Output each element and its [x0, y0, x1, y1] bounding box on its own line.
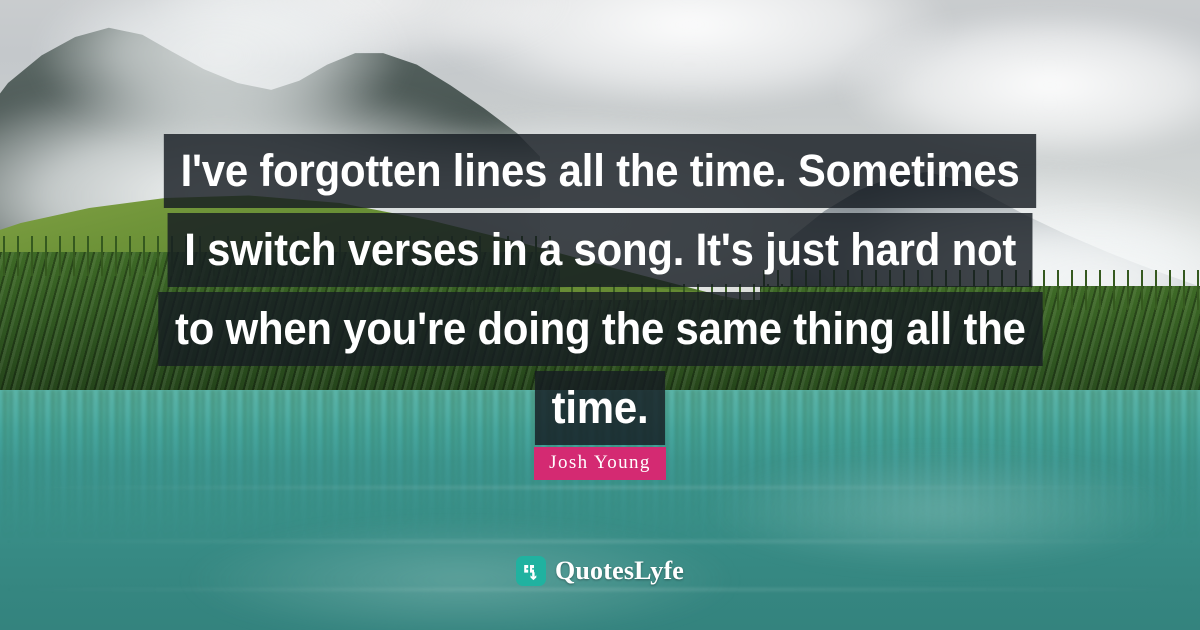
quote-line: I switch verses in a song. It's just har… — [167, 213, 1032, 287]
quote-text-block: I've forgotten lines all the time. Somet… — [0, 134, 1200, 450]
author-name-badge: Josh Young — [534, 447, 666, 480]
quote-image-canvas: I've forgotten lines all the time. Somet… — [0, 0, 1200, 630]
brand-logo[interactable]: QuotesLyfe — [0, 556, 1200, 586]
quote-line: to when you're doing the same thing all … — [158, 292, 1042, 366]
quote-line: time. — [535, 371, 665, 445]
author-attribution: Josh Young — [0, 447, 1200, 480]
overlay-content: I've forgotten lines all the time. Somet… — [0, 0, 1200, 630]
brand-name-text: QuotesLyfe — [555, 556, 684, 586]
quote-line: I've forgotten lines all the time. Somet… — [164, 134, 1036, 208]
quote-mark-icon — [516, 556, 546, 586]
